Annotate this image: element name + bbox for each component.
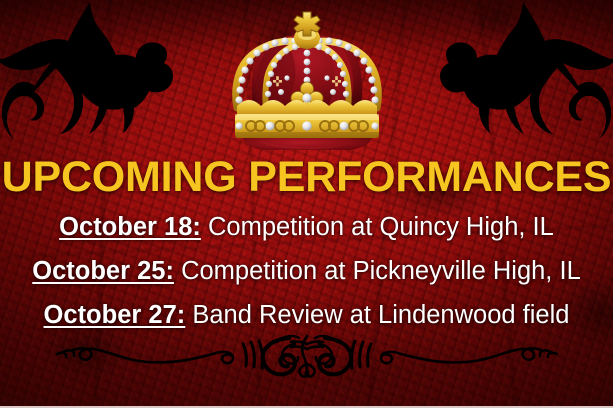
crown-icon: [223, 6, 391, 150]
filigree-flourish-icon: [27, 330, 587, 382]
event-description: Competition at Pickneyville High, IL: [181, 257, 581, 285]
event-description: Competition at Quincy High, IL: [208, 213, 554, 241]
dragon-silhouette-icon: [0, 0, 209, 152]
events-list: October 18: Competition at Quincy High, …: [0, 205, 613, 337]
list-item: October 25: Competition at Pickneyville …: [0, 249, 613, 293]
event-date: October 18:: [59, 213, 201, 241]
event-date: October 27:: [44, 301, 186, 329]
list-item: October 18: Competition at Quincy High, …: [0, 205, 613, 249]
page-title: UPCOMING PERFORMANCES: [0, 156, 613, 199]
performance-poster: UPCOMING PERFORMANCES October 18: Compet…: [0, 0, 613, 408]
event-description: Band Review at Lindenwood field: [192, 301, 569, 329]
event-date: October 25:: [32, 257, 174, 285]
dragon-silhouette-icon: [404, 0, 613, 152]
